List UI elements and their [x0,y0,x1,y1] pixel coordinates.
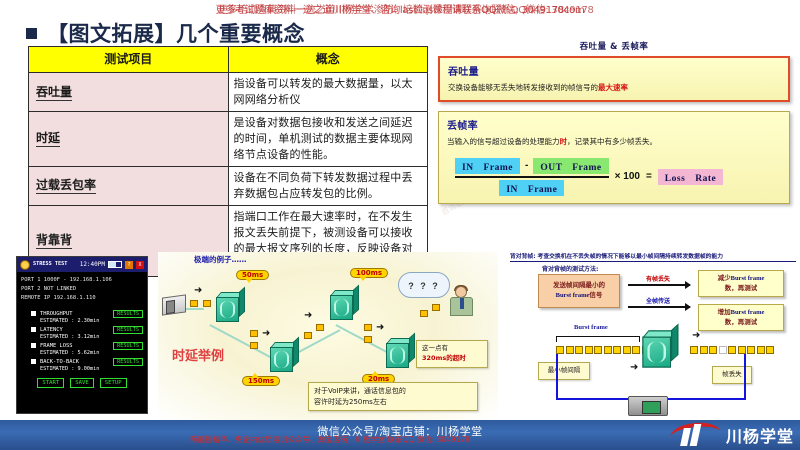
burst-source-line2cn: 信号 [589,291,602,299]
save-button[interactable]: SAVE [70,378,93,388]
in-frame-chip-den: IN Frame [499,180,564,196]
result-box-decrease: 减少Burst frame 数，再测试 [698,270,784,297]
latency-bubble-50ms: 50ms [236,270,269,280]
chuanyang-logo-icon [670,422,722,448]
thought-cloud-icon: ? ? ? [398,272,450,298]
estimated-frameloss: ESTIMATED : 5.62min [31,350,143,356]
checkbox-frameloss[interactable] [31,343,36,348]
test-row-frameloss[interactable]: FRAME LOSS RESULTS [31,342,143,350]
gear-icon [20,260,30,270]
loss-rate-formula: IN Frame - OUT Frame IN Frame × 100 = Lo… [447,158,781,197]
latency-bubble-100ms: 100ms [350,268,388,278]
port1-status: PORT 1 1000F - 192.168.1.106 [21,276,143,285]
setup-button[interactable]: SETUP [100,378,127,388]
desc-cell: 指设备可以转发的最大数据量，以太网网络分析仪 [228,73,428,112]
slide-root: 更多考试题库资料一迹之道川杨学堂、咨询las检测课程请联系QQ微信: 30491… [0,0,800,450]
start-button[interactable]: START [37,378,64,388]
frameloss-desc: 当输入的信号超过设备的处理能力时，记录其中有多少帧丢失。 [447,136,781,147]
burst-source-line1: 发送帧间隔最小的 [553,281,605,291]
increase-cn2: 数，再测试 [725,318,758,328]
frameloss-heading: 丢帧率 [447,117,781,132]
packet-icon [250,330,258,337]
results-button[interactable]: RESULTS [113,326,143,334]
arrow-icon: ➜ [194,285,202,296]
frames-out [690,346,774,354]
estimated-latency: ESTIMATED : 3.12min [31,334,143,340]
test-label: FRAME LOSS [40,343,109,349]
port2-status: PORT 2 NOT LINKED [21,285,143,294]
burst-span-bracket [556,336,640,342]
packet-icon [364,336,372,343]
test-row-latency[interactable]: LATENCY RESULTS [31,326,143,334]
desc-cell: 设备在不同负荷下转发数据过程中丢弃数据包占应转发包的比例。 [228,167,428,206]
decrease-en: Burst frame [731,275,765,282]
remote-ip-status: REMOTE IP 192.168.1.110 [21,294,143,303]
brand-name: 川杨学堂 [726,423,794,447]
packet-icon [190,300,198,307]
burst-source-box: 发送帧间隔最小的 Burst frame信号 [538,274,620,308]
checkbox-latency[interactable] [31,327,36,332]
test-label: LATENCY [40,327,109,333]
col-header-item: 测试项目 [29,47,229,73]
arrow-icon: ➜ [376,322,384,333]
callout-320ms: 这一点有 320ms的超时 [416,340,488,368]
burst-frame-diagram: 背对背帧: 考查交换机在不丢失帧的情况下能够以最小帧间隔持续转发数据帧的能力 背… [500,250,800,420]
test-meter-icon [628,396,668,416]
equals-operator: = [646,171,652,182]
footer-bar: 微信公众号/淘宝店铺：川杨学堂 筛面授精华、央企内优质培训公众号、淘宝店铺；川杨… [0,420,800,450]
table-row: 时延 是设备对数据包接收和发送之间延迟的时间，单机测试的数据主要体现网络节点设备… [29,112,428,167]
throughput-frameloss-panel: 吞吐量 & 丢帧率 吞吐量 交换设备能够无丢失地转发接收到的帧信号的最大速率 丢… [438,40,790,213]
increase-en: Burst frame [731,309,765,316]
throughput-heading: 吞吐量 [448,63,780,78]
minus-operator: - [525,160,528,171]
device-body: PORT 1 1000F - 192.168.1.106 PORT 2 NOT … [17,272,147,390]
battery-icon [108,261,122,268]
burst-frame-label: Burst frame [574,324,608,331]
switch-icon [216,292,246,322]
help-button[interactable]: ? [125,261,133,269]
decrease-cn2: 数，再测试 [725,284,758,294]
frameloss-desc-accent: 时 [560,137,568,146]
in-frame-chip-num: IN Frame [455,158,520,174]
arrow-icon: ➜ [692,330,700,341]
packet-icon [203,300,211,307]
results-button[interactable]: RESULTS [113,358,143,366]
formula-denominator: IN Frame [499,180,564,196]
throughput-desc-accent: 最大速率 [598,83,628,92]
frames-in [556,346,650,354]
multiplier: × 100 [615,171,640,182]
table-row: 过载丢包率 设备在不同负荷下转发数据过程中丢弃数据包占应转发包的比例。 [29,167,428,206]
latency-bubble-150ms: 150ms [242,376,280,386]
page-title: 【图文拓展】几个重要概念 [26,18,305,48]
packet-icon [250,342,258,349]
packet-icon [316,324,324,331]
stress-test-device[interactable]: STRESS TEST 12:40PM ? X PORT 1 1000F - 1… [16,256,148,414]
table-header-row: 测试项目 概念 [29,47,428,73]
panel-title: 吞吐量 & 丢帧率 [438,40,790,52]
latency-diagram-header: 极端的例子…… [194,254,247,265]
switch-icon [270,342,300,372]
test-row-throughput[interactable]: THROUGHPUT RESULTS [31,310,143,318]
callout-320ms-line1: 这一点有 [422,344,482,354]
estimated-throughput: ESTIMATED : 2.30min [31,318,143,324]
throughput-box: 吞吐量 交换设备能够无丢失地转发接收到的帧信号的最大速率 [438,56,790,102]
result-box-increase: 增加Burst frame 数，再测试 [698,304,784,331]
throughput-desc: 交换设备能够无丢失地转发接收到的帧信号的最大速率 [448,82,780,93]
callout-320ms-line2: 320ms的超时 [422,354,466,362]
burst-source-en: Burst frame [556,292,590,299]
brand-logo: 川杨学堂 [670,420,794,450]
frameloss-desc-before: 当输入的信号超过设备的处理能力 [447,137,560,146]
term-text: 背靠背 [36,233,72,249]
top-watermark: 更多考试题库资料一迹之道川杨学堂、咨询las检测课程请联系QQ微信: 30491… [0,1,800,16]
frameloss-desc-after: ，记录其中有多少帧丢失。 [567,137,657,146]
term-text: 时延 [36,131,60,147]
latency-diagram-title: 时延举例 [172,345,224,364]
flow-arrow-all [628,306,690,308]
footer-sub-text: 筛面授精华、央企内优质培训公众号、淘宝店铺；川杨学堂 联系QQ 微信: 3049… [0,434,660,445]
term-cell: 时延 [29,112,229,167]
term-text: 过载丢包率 [36,178,96,194]
estimated-backtoback: ESTIMATED : 9.00min [31,366,143,372]
device-buttons: START SAVE SETUP [21,378,143,388]
loopback-wire [556,354,746,400]
test-list: THROUGHPUT RESULTS ESTIMATED : 2.30min L… [21,310,143,372]
term-text: 吞吐量 [36,85,72,101]
term-cell: 吞吐量 [29,73,229,112]
square-bullet-icon [26,28,37,39]
checkbox-throughput[interactable] [31,311,36,316]
latency-diagram: 极端的例子…… 时延举例 ➜ 50ms ➜ 150ms ➜ [158,252,498,420]
increase-cn1: 增加 [718,308,731,316]
switch-icon [330,290,360,320]
packet-icon [420,310,428,317]
burst-diagram-subhead: 背对背帧的测试方法: [542,264,598,273]
arrow-icon: ➜ [262,328,270,339]
packet-icon [432,304,440,311]
person-icon [448,286,476,316]
throughput-desc-before: 交换设备能够无丢失地转发接收到的帧信号的 [448,83,598,92]
checkbox-backtoback[interactable] [31,359,36,364]
test-row-backtoback[interactable]: BACK-TO-BACK RESULTS [31,358,143,366]
table-row: 吞吐量 指设备可以转发的最大数据量，以太网网络分析仪 [29,73,428,112]
page-title-text: 【图文拓展】几个重要概念 [47,18,305,48]
device-app-title: STRESS TEST [33,262,67,267]
test-label: BACK-TO-BACK [40,359,109,365]
packet-icon [304,332,312,339]
callout-voip: 对于VoIP来讲，通话信息包的 容许时延为250ms左右 [308,382,478,411]
concepts-table: 测试项目 概念 吞吐量 指设备可以转发的最大数据量，以太网网络分析仪 时延 是设… [28,46,428,277]
col-header-concept: 概念 [228,47,428,73]
frameloss-box: 丢帧率 当输入的信号超过设备的处理能力时，记录其中有多少帧丢失。 IN Fram… [438,111,790,204]
desc-cell: 是设备对数据包接收和发送之间延迟的时间，单机测试的数据主要体现网络节点设备的性能… [228,112,428,167]
out-frame-chip: OUT Frame [533,158,608,174]
results-button[interactable]: RESULTS [113,310,143,318]
test-label: THROUGHPUT [40,311,109,317]
packet-icon [364,324,372,331]
flow-label-all: 全帧传送 [646,296,670,305]
formula-fraction: IN Frame - OUT Frame IN Frame [455,158,609,197]
device-clock: 12:40PM [80,261,105,268]
switch-icon [386,338,416,368]
flow-label-loss: 有帧丢失 [646,274,670,283]
formula-numerator: IN Frame - OUT Frame [455,158,609,174]
callout-voip-line1: 对于VoIP来讲，通话信息包的 [314,386,472,397]
device-titlebar: STRESS TEST 12:40PM ? X [17,257,147,272]
results-button[interactable]: RESULTS [113,342,143,350]
loss-rate-chip: Loss Rate [658,169,723,185]
telephone-icon [162,294,186,315]
decrease-cn1: 减少 [718,274,731,282]
burst-diagram-header: 背对背帧: 考查交换机在不丢失帧的情况下能够以最小帧间隔持续转发数据帧的能力 [510,251,796,262]
top-watermark-dup: 更多培训查典资料一迹之道川杨全学渗防、培训qs检测课程咨询联系QQ微信: 304… [218,1,593,16]
term-cell: 过载丢包率 [29,167,229,206]
callout-voip-line2: 容许时延为250ms左右 [314,397,472,408]
close-icon[interactable]: X [136,261,144,269]
fraction-bar [455,176,609,179]
arrow-icon: ➜ [304,310,312,321]
flow-arrow-loss [628,284,690,286]
